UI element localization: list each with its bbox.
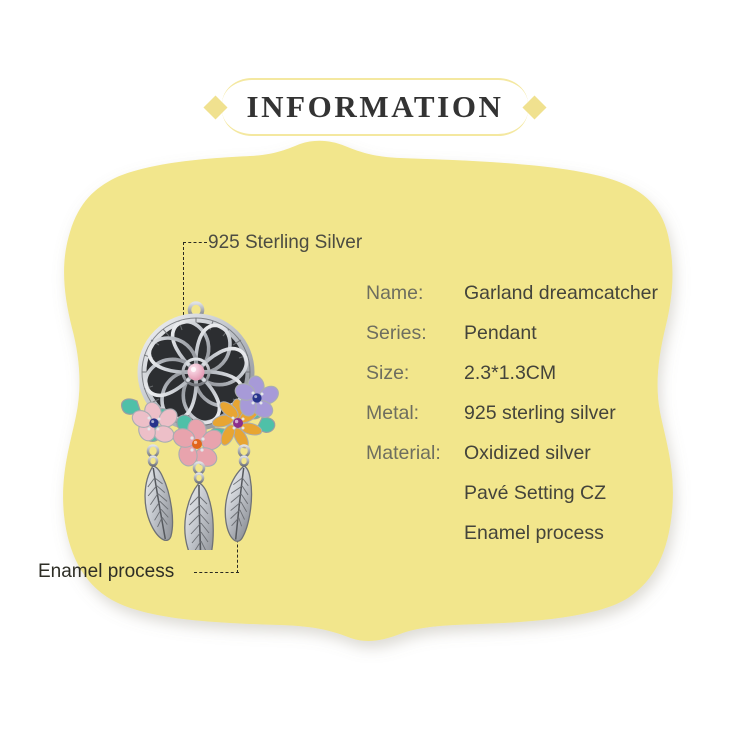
spec-label: Size: [366,362,464,385]
information-card-page: INFORMATION 925 Sterling Silver Enamel p… [0,0,750,748]
spec-label: Metal: [366,402,464,425]
spec-row-metal: Metal: 925 sterling silver [366,402,696,442]
spec-value: Oxidized silver [464,442,591,465]
page-header-banner: INFORMATION [0,78,750,136]
spec-row-series: Series: Pendant [366,322,696,362]
spec-row-name: Name: Garland dreamcatcher [366,282,696,322]
feather-right [221,464,257,542]
spec-value: Pavé Setting CZ [464,482,606,505]
spec-label: Material: [366,442,464,465]
spec-row-material: Material: Oxidized silver [366,442,696,482]
leader-line-enamel-horizontal [194,572,239,573]
feather-center [185,483,213,550]
product-image-dreamcatcher-pendant [96,300,296,550]
spec-value: Garland dreamcatcher [464,282,658,305]
spec-value: Pendant [464,322,537,345]
spec-row-size: Size: 2.3*1.3CM [366,362,696,402]
page-title: INFORMATION [222,78,528,136]
spec-value: Enamel process [464,522,604,545]
spec-row-material-cont-2: Enamel process [366,522,696,562]
product-spec-list: Name: Garland dreamcatcher Series: Penda… [366,282,696,562]
info-card-content: 925 Sterling Silver Enamel process [0,140,750,680]
annotation-label-enamel-process: Enamel process [38,561,174,583]
leader-line-sterling-horizontal [183,242,207,243]
feather-left [140,464,176,542]
spec-label: Series: [366,322,464,345]
center-cz-stone [188,364,205,381]
spec-row-material-cont-1: Pavé Setting CZ [366,482,696,522]
spec-label: Name: [366,282,464,305]
annotation-label-sterling-silver: 925 Sterling Silver [208,232,362,254]
spec-value: 2.3*1.3CM [464,362,556,385]
spec-value: 925 sterling silver [464,402,616,425]
